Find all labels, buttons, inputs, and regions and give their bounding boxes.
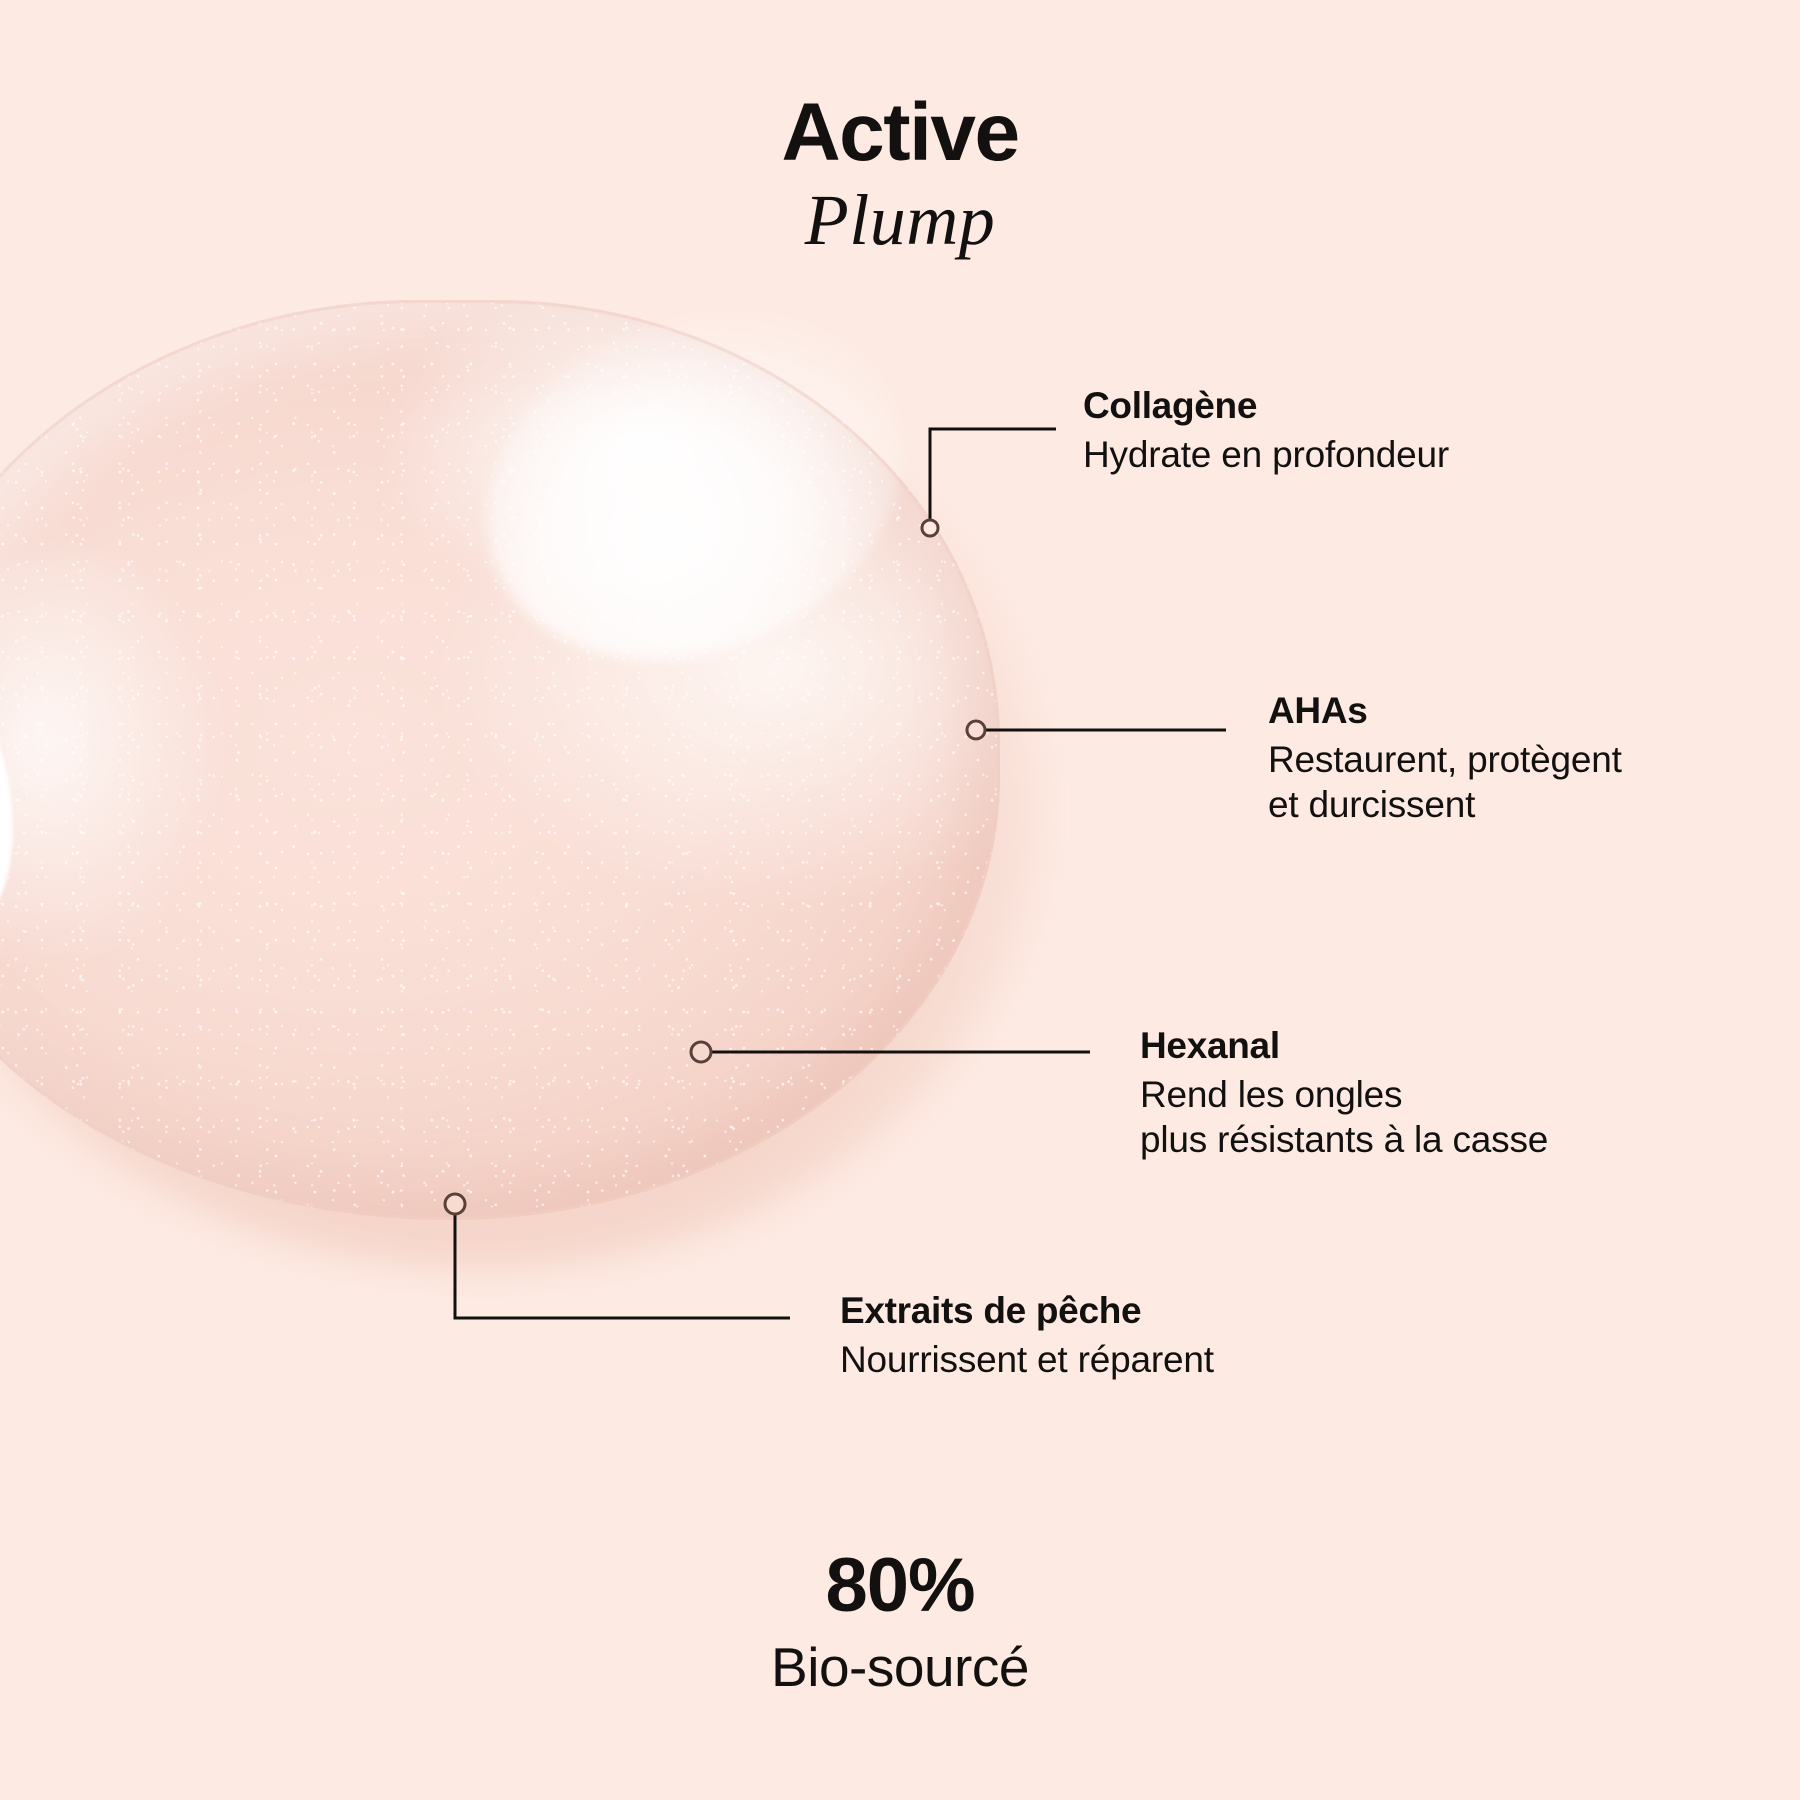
callout-peche-description: Nourrissent et réparent bbox=[840, 1337, 1214, 1382]
callout-collagene-title: Collagène bbox=[1083, 385, 1449, 428]
callout-ahas-description: Restaurent, protègent et durcissent bbox=[1268, 737, 1622, 827]
callout-ahas: AHAs Restaurent, protègent et durcissent bbox=[1268, 690, 1622, 827]
callout-collagene: Collagène Hydrate en profondeur bbox=[1083, 385, 1449, 477]
stat-label: Bio-sourcé bbox=[0, 1640, 1800, 1695]
callout-hexanal-description: Rend les ongles plus résistants à la cas… bbox=[1140, 1072, 1548, 1162]
callout-peche-title: Extraits de pêche bbox=[840, 1290, 1214, 1333]
callout-hexanal-title: Hexanal bbox=[1140, 1025, 1548, 1068]
page-title: Active Plump bbox=[0, 92, 1800, 256]
title-secondary: Plump bbox=[0, 184, 1800, 256]
callout-collagene-description: Hydrate en profondeur bbox=[1083, 432, 1449, 477]
droplet-illustration bbox=[0, 300, 1080, 1300]
title-primary: Active bbox=[0, 92, 1800, 174]
bio-sourced-stat: 80% Bio-sourcé bbox=[0, 1548, 1800, 1695]
callout-hexanal: Hexanal Rend les ongles plus résistants … bbox=[1140, 1025, 1548, 1162]
product-ingredient-infographic: Active Plump bbox=[0, 0, 1800, 1800]
stat-value: 80% bbox=[0, 1548, 1800, 1624]
callout-ahas-title: AHAs bbox=[1268, 690, 1622, 733]
callout-peche: Extraits de pêche Nourrissent et réparen… bbox=[840, 1290, 1214, 1382]
